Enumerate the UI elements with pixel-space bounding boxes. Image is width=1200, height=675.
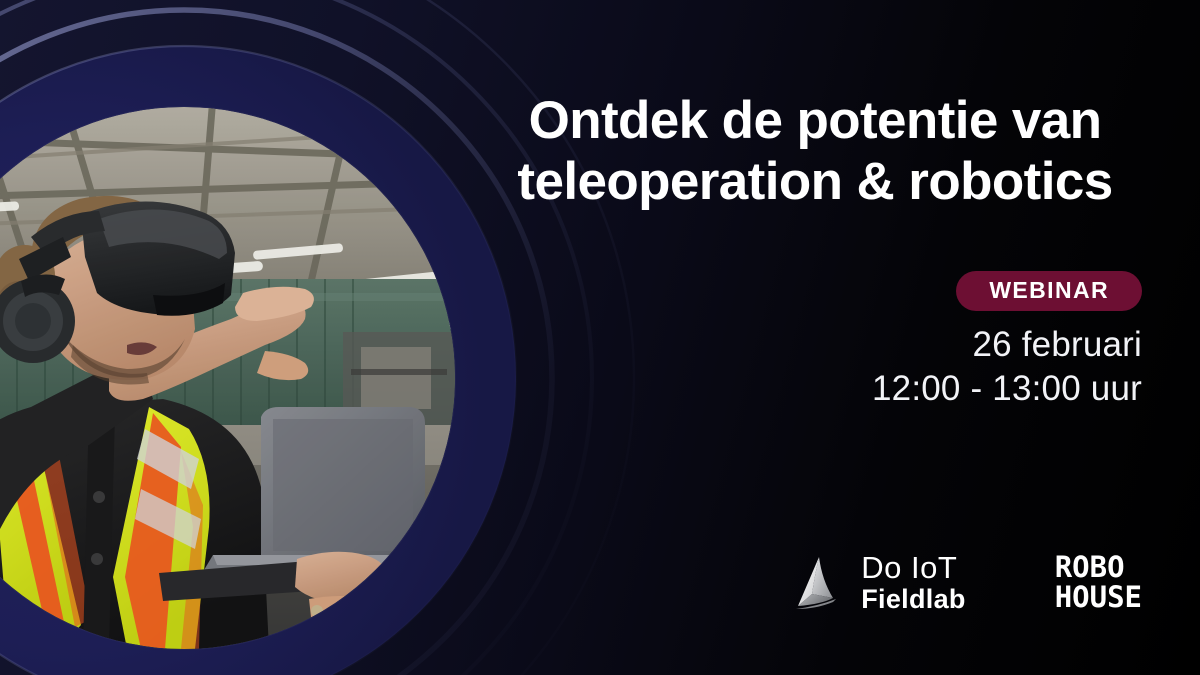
logo-row: Do IoT Fieldlab ROBO HOUSE — [470, 552, 1142, 613]
schedule: 26 februari 12:00 - 13:00 uur — [470, 323, 1142, 411]
logo-do-iot-line-1: Do IoT — [861, 552, 965, 583]
logo-robohouse-line-2: HOUSE — [1055, 583, 1142, 613]
schedule-time: 12:00 - 13:00 uur — [470, 367, 1142, 411]
page-title: Ontdek de potentie van teleoperation & r… — [470, 90, 1160, 213]
logo-do-iot-line-2: Fieldlab — [861, 586, 965, 613]
logo-do-iot-fieldlab: Do IoT Fieldlab — [792, 552, 965, 613]
logo-do-iot-wordmark: Do IoT Fieldlab — [861, 552, 965, 613]
triangle-arrow-icon — [792, 554, 848, 612]
badge-row: WEBINAR — [470, 271, 1142, 311]
logo-robohouse-line-1: ROBO — [1055, 553, 1142, 583]
status-badge: WEBINAR — [956, 271, 1142, 311]
logo-robohouse: ROBO HOUSE — [1055, 553, 1142, 612]
hero-photo: Man met VR-bril en gehoorbescherming in … — [0, 107, 455, 649]
hero-photo-illustration: Man met VR-bril en gehoorbescherming in … — [0, 107, 455, 649]
schedule-date: 26 februari — [470, 323, 1142, 367]
page-title-line-2: teleoperation & robotics — [470, 151, 1160, 212]
page-title-line-1: Ontdek de potentie van — [470, 90, 1160, 151]
webinar-banner: Man met VR-bril en gehoorbescherming in … — [0, 0, 1200, 675]
